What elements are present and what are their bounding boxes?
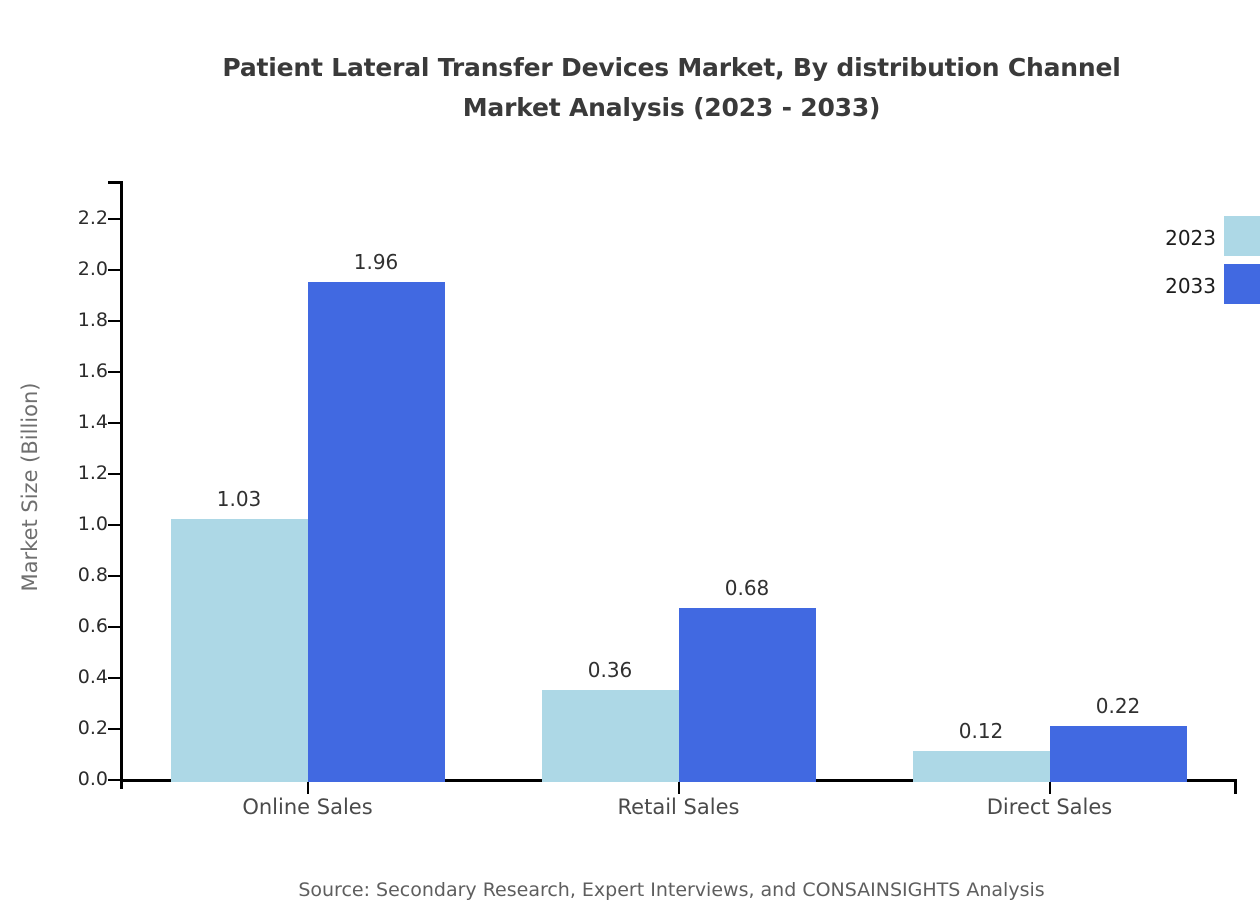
bar-value-label: 0.12 [913, 721, 1050, 741]
x-tick-mark [678, 782, 680, 794]
bar-value-label: 0.68 [679, 578, 816, 598]
y-tick-label: 1.6 [78, 362, 108, 381]
y-tick-mark [108, 728, 120, 730]
y-tick-label: 0.2 [78, 719, 108, 738]
y-tick-mark [108, 677, 120, 679]
y-tick-label: 1.4 [78, 413, 108, 432]
x-tick-label: Direct Sales [900, 795, 1200, 819]
y-tick-mark [108, 269, 120, 271]
bar[interactable] [1050, 726, 1187, 782]
bar[interactable] [308, 282, 445, 782]
legend-swatch [1224, 216, 1260, 256]
x-tick-mark [1049, 782, 1051, 794]
y-tick-label: 0.6 [78, 617, 108, 636]
y-tick-mark [108, 575, 120, 577]
legend-item[interactable]: 2033 [1130, 264, 1260, 312]
bar[interactable] [913, 751, 1050, 782]
y-axis-title: Market Size (Billion) [18, 337, 42, 637]
y-tick-mark [108, 422, 120, 424]
y-tick-label: 0.8 [78, 566, 108, 585]
y-tick-mark [108, 524, 120, 526]
x-tick-mark [307, 782, 309, 794]
y-tick-label: 1.2 [78, 464, 108, 483]
legend-label: 2023 [1130, 226, 1216, 250]
bar-value-label: 1.96 [308, 252, 445, 272]
legend-item[interactable]: 2023 [1130, 216, 1260, 264]
source-note: Source: Secondary Research, Expert Inter… [0, 879, 1260, 901]
plot-area: 1.031.960.360.680.120.22 [122, 181, 1235, 781]
y-tick-label: 1.8 [78, 311, 108, 330]
x-tick-label: Retail Sales [529, 795, 829, 819]
x-axis-right-cap [1234, 779, 1237, 794]
bar-value-label: 0.36 [542, 660, 679, 680]
y-tick-label: 0.0 [78, 770, 108, 789]
chart-title: Patient Lateral Transfer Devices Market,… [0, 48, 1260, 128]
y-tick-label: 2.2 [78, 209, 108, 228]
y-axis-top-cap [108, 181, 123, 184]
y-tick-label: 2.0 [78, 260, 108, 279]
y-tick-label: 1.0 [78, 515, 108, 534]
legend-swatch [1224, 264, 1260, 304]
legend-label: 2033 [1130, 274, 1216, 298]
x-tick-label: Online Sales [158, 795, 458, 819]
y-tick-mark [108, 626, 120, 628]
bar[interactable] [171, 519, 308, 782]
y-tick-mark [108, 218, 120, 220]
bar-value-label: 0.22 [1050, 696, 1187, 716]
chart-figure: Patient Lateral Transfer Devices Market,… [0, 0, 1260, 920]
y-tick-mark [108, 320, 120, 322]
bar[interactable] [542, 690, 679, 782]
chart-legend: 20232033 [1130, 216, 1260, 312]
y-tick-label: 0.4 [78, 668, 108, 687]
y-tick-mark [108, 371, 120, 373]
y-tick-mark [108, 779, 120, 781]
bar[interactable] [679, 608, 816, 782]
bar-value-label: 1.03 [171, 489, 308, 509]
y-tick-mark [108, 473, 120, 475]
